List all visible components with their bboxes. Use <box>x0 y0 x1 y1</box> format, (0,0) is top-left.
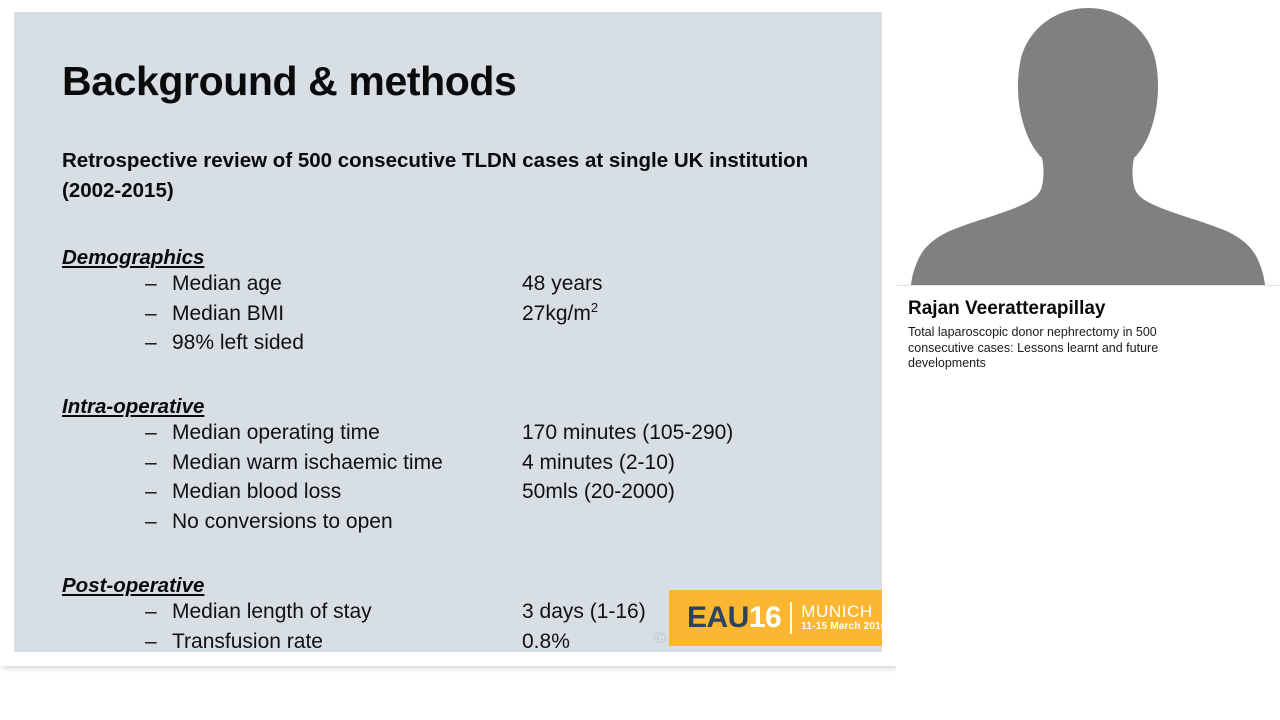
eau-dates-label: 11-15 March 2016 <box>801 622 882 633</box>
bullet-value: 50mls (20-2000) <box>522 480 675 504</box>
bullet-dash: – <box>145 600 157 624</box>
bullet-dash: – <box>145 272 157 296</box>
bullet-row: – Median age 48 years <box>62 272 862 302</box>
bullet-dash: – <box>145 331 157 355</box>
bullet-row: – Median blood loss 50mls (20-2000) <box>62 480 862 510</box>
bullet-label: Median length of stay <box>172 600 372 624</box>
bullet-dash: – <box>145 451 157 475</box>
bullet-label: Median BMI <box>172 302 284 326</box>
section-heading-intra-operative: Intra-operative <box>62 395 204 419</box>
speaker-talk-title: Total laparoscopic donor nephrectomy in … <box>908 325 1208 372</box>
bullet-label: 98% left sided <box>172 331 304 355</box>
bullet-row: – 98% left sided <box>62 331 862 361</box>
bullet-dash: – <box>145 630 157 653</box>
section-intra-operative: Intra-operative – Median operating time … <box>62 395 862 539</box>
bullet-label: No conversions to open <box>172 510 393 534</box>
bullet-label: Transfusion rate <box>172 630 323 653</box>
bullet-label: Median age <box>172 272 282 296</box>
slide-panel: Background & methods Retrospective revie… <box>14 12 882 652</box>
speaker-panel: Rajan Veeratterapillay Total laparoscopi… <box>896 0 1280 720</box>
screen-root: Background & methods Retrospective revie… <box>0 0 1280 720</box>
eau-letters: EAU <box>687 601 749 634</box>
eau-logo-divider <box>790 602 792 634</box>
bullet-label: Median operating time <box>172 421 380 445</box>
bullet-value: 48 years <box>522 272 603 296</box>
slide-subtitle: Retrospective review of 500 consecutive … <box>62 146 822 206</box>
bullet-value-text: 27kg/m <box>522 302 591 325</box>
row-list-intra-operative: – Median operating time 170 minutes (105… <box>62 421 862 539</box>
section-heading-demographics: Demographics <box>62 246 204 270</box>
bullet-dash: – <box>145 480 157 504</box>
speaker-avatar <box>896 0 1280 285</box>
bullet-dash: – <box>145 421 157 445</box>
bullet-row: – Median warm ischaemic time 4 minutes (… <box>62 451 862 481</box>
copyright-watermark: © <box>654 630 666 648</box>
section-demographics: Demographics – Median age 48 years – Med… <box>62 246 862 361</box>
slide-title: Background & methods <box>62 58 516 105</box>
bullet-dash: – <box>145 302 157 326</box>
bullet-row: – Median BMI 27kg/m2 <box>62 302 862 332</box>
bullet-value: 0.8% <box>522 630 570 653</box>
speaker-panel-divider <box>896 285 1280 286</box>
eau-city-label: MUNICH <box>801 603 882 621</box>
eau-year: 16 <box>749 601 781 634</box>
bullet-value-superscript: 2 <box>591 300 598 315</box>
speaker-name: Rajan Veeratterapillay <box>908 298 1272 321</box>
bullet-row: – No conversions to open <box>62 510 862 540</box>
bullet-dash: – <box>145 510 157 534</box>
bullet-value: 3 days (1-16) <box>522 600 646 624</box>
eau-city-block: MUNICH 11-15 March 2016 <box>801 603 882 632</box>
eau16-logo: EAU16 MUNICH 11-15 March 2016 <box>669 590 882 646</box>
bullet-label: Median blood loss <box>172 480 341 504</box>
slide-card[interactable]: Background & methods Retrospective revie… <box>0 0 896 666</box>
section-heading-post-operative: Post-operative <box>62 574 204 598</box>
bullet-label: Median warm ischaemic time <box>172 451 443 475</box>
person-silhouette-icon <box>896 0 1280 285</box>
bullet-value: 27kg/m2 <box>522 302 598 326</box>
row-list-demographics: – Median age 48 years – Median BMI 27kg/… <box>62 272 862 361</box>
bullet-value: 170 minutes (105-290) <box>522 421 733 445</box>
bullet-value: 4 minutes (2-10) <box>522 451 675 475</box>
bullet-row: – Median operating time 170 minutes (105… <box>62 421 862 451</box>
eau16-wordmark: EAU16 <box>687 603 781 633</box>
